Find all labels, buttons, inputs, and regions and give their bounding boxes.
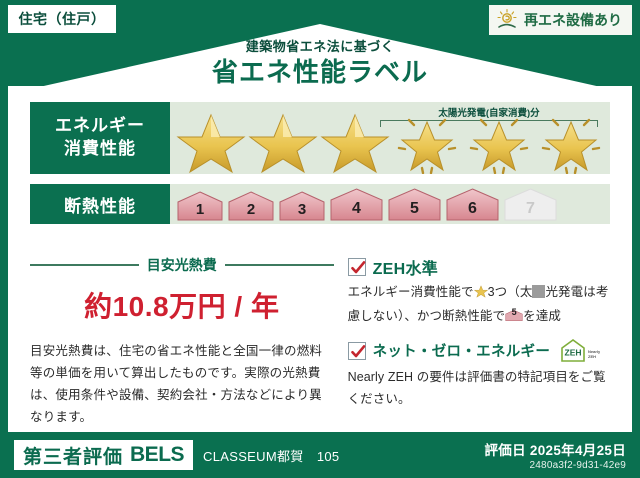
insulation-level-value: 2 [247, 201, 255, 221]
zeh-standard-title: ZEH水準 [373, 255, 439, 279]
insulation-level-value: 1 [196, 201, 204, 221]
svg-text:ZEH: ZEH [588, 354, 596, 359]
utility-cost-heading-text: 目安光熱費 [147, 255, 217, 275]
star-icon [248, 108, 318, 174]
mini-insulation-value: 5 [505, 308, 523, 321]
insulation-level-value: 5 [410, 200, 419, 221]
renewable-equipment-badge: 再エネ設備あり [489, 5, 632, 35]
lower-content: 目安光熱費 約10.8万円 / 年 目安光熱費は、住宅の省エネ性能と全国一律の燃… [30, 255, 610, 429]
evaluation-info: 評価日 2025年4月25日 2480a3f2-9d31-42e9 [484, 439, 626, 471]
title-subtitle: 建築物省エネ法に基づく [0, 40, 640, 54]
rule-right [225, 264, 334, 266]
insulation-level-1: 1 [176, 191, 224, 221]
net-zero-energy-header: ネット・ゼロ・エネルギー ZEH Nearly ZEH [348, 338, 610, 364]
renewable-badge-label: 再エネ設備あり [524, 10, 622, 30]
utility-cost-note: 目安光熱費は、住宅の省エネ性能と全国一律の燃料等の単価を用いて算出したものです。… [30, 341, 334, 429]
zeh-logo-icon: ZEH Nearly ZEH [560, 338, 600, 364]
insulation-performance-label: 断熱性能 [30, 184, 170, 224]
insulation-level-value: 7 [526, 200, 535, 221]
net-zero-energy-body: Nearly ZEH の要件は評価書の特記項目をご覧ください。 [348, 367, 610, 411]
building-name: CLASSEUM都賀 105 [203, 446, 339, 465]
bels-certification-box: 第三者評価 BELS [14, 440, 193, 470]
insulation-level-scale: 1 2 3 4 [176, 188, 558, 221]
checkbox-checked-icon [348, 258, 366, 276]
net-zero-energy-title: ネット・ゼロ・エネルギー [373, 340, 551, 361]
insulation-level-value: 3 [298, 201, 306, 221]
energy-label-line2: 消費性能 [64, 138, 136, 161]
star-solar-icon [536, 108, 606, 174]
utility-cost-value: 約10.8万円 / 年 [30, 285, 334, 325]
zeh-body-part2: 3つ（太 [488, 285, 533, 299]
checkbox-checked-icon [348, 342, 366, 360]
energy-performance-row: エネルギー 消費性能 太陽光発電(自家消費)分 [30, 102, 610, 174]
evaluation-id: 2480a3f2-9d31-42e9 [484, 460, 626, 471]
inline-star-icon [474, 284, 488, 306]
insulation-level-7: 7 [503, 188, 558, 221]
zeh-standard-body: エネルギー消費性能で3つ（太光発電は考慮しない）、かつ断熱性能で5を達成 [348, 282, 610, 328]
zeh-body-part4: を達成 [523, 309, 561, 323]
rule-left [30, 264, 139, 266]
performance-rows: エネルギー 消費性能 太陽光発電(自家消費)分 [30, 102, 610, 224]
utility-cost-heading: 目安光熱費 [30, 255, 334, 275]
third-party-eval-label: 第三者評価 [23, 442, 123, 469]
insulation-level-6: 6 [445, 188, 500, 221]
star-icon [320, 108, 390, 174]
utility-cost-section: 目安光熱費 約10.8万円 / 年 目安光熱費は、住宅の省エネ性能と全国一律の燃… [30, 255, 334, 429]
svg-text:ZEH: ZEH [565, 347, 582, 357]
dwelling-type-tag: 住宅（住戸） [8, 5, 116, 33]
insulation-level-4: 4 [329, 188, 384, 221]
insulation-level-3: 3 [278, 191, 326, 221]
dwelling-type-label: 住宅（住戸） [19, 9, 106, 29]
insulation-level-value: 6 [468, 200, 477, 221]
bels-logo-text: BELS [130, 443, 184, 467]
star-solar-icon [464, 108, 534, 174]
zeh-standard-header: ZEH水準 [348, 255, 610, 279]
insulation-level-5: 5 [387, 188, 442, 221]
sun-icon [495, 8, 519, 32]
mini-insulation-badge: 5 [505, 308, 523, 321]
star-icon [176, 108, 246, 174]
energy-performance-label: エネルギー 消費性能 [30, 102, 170, 174]
insulation-level-value: 4 [352, 200, 361, 221]
star-solar-icon [392, 108, 462, 174]
zeh-body-part1: エネルギー消費性能で [348, 285, 474, 299]
evaluation-date: 評価日 2025年4月25日 [484, 439, 626, 459]
insulation-performance-value: 1 2 3 4 [170, 184, 610, 224]
label-title-block: 建築物省エネ法に基づく 省エネ性能ラベル [0, 40, 640, 89]
insulation-performance-row: 断熱性能 1 [30, 184, 610, 224]
zeh-standard-item: ZEH水準 エネルギー消費性能で3つ（太光発電は考慮しない）、かつ断熱性能で5を… [348, 255, 610, 328]
net-zero-energy-item: ネット・ゼロ・エネルギー ZEH Nearly ZEH Nearly ZEH の… [348, 338, 610, 411]
insulation-label-text: 断熱性能 [64, 192, 136, 217]
zeh-section: ZEH水準 エネルギー消費性能で3つ（太光発電は考慮しない）、かつ断熱性能で5を… [348, 255, 610, 429]
insulation-level-2: 2 [227, 191, 275, 221]
energy-performance-value: 太陽光発電(自家消費)分 [170, 102, 610, 174]
footer-bar: 第三者評価 BELS CLASSEUM都賀 105 評価日 2025年4月25日… [0, 432, 640, 478]
page-title: 省エネ性能ラベル [0, 56, 640, 89]
energy-label-line1: エネルギー [55, 115, 145, 138]
redaction-block [532, 285, 545, 298]
